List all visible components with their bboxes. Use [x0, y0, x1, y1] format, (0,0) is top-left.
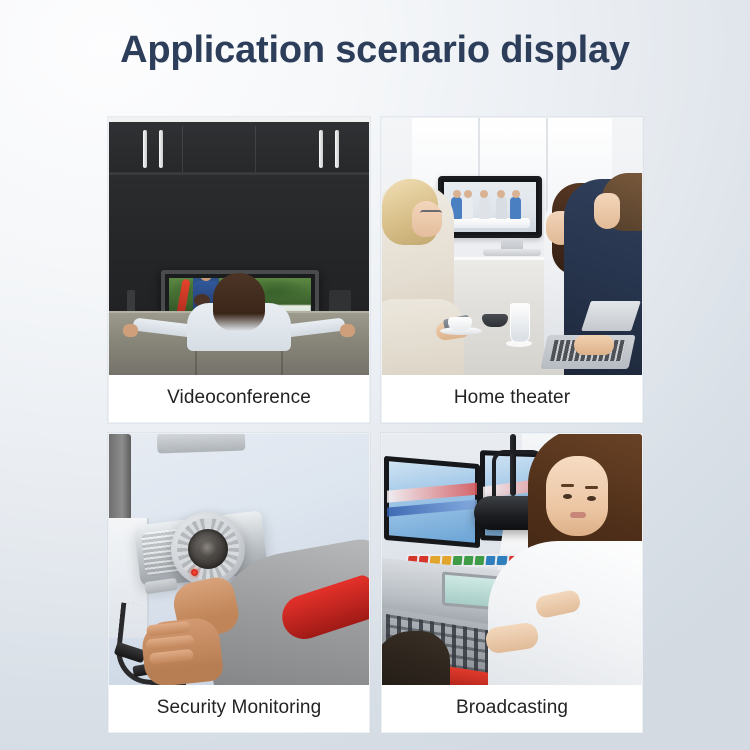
application-scenario-page: Application scenario display: [0, 0, 750, 750]
photo-security-monitoring: [109, 434, 369, 685]
water-glass: [510, 303, 530, 343]
photo-videoconference: [109, 118, 369, 375]
scenario-card-home-theater[interactable]: Home theater: [381, 117, 643, 423]
caption-broadcasting: Broadcasting: [382, 685, 642, 732]
caption-home-theater: Home theater: [382, 375, 642, 422]
laptop-secondary: [581, 301, 641, 331]
foreground-shadow: [382, 631, 450, 685]
scenario-card-security-monitoring[interactable]: Security Monitoring: [108, 433, 370, 733]
scene-radio-studio: [382, 434, 642, 685]
scene-dark-living-room: [109, 118, 369, 375]
monitor-base: [483, 249, 541, 256]
page-title: Application scenario display: [0, 26, 750, 74]
man-hand-right: [340, 324, 355, 337]
caption-videoconference: Videoconference: [109, 375, 369, 422]
scene-conference-room: [382, 118, 642, 375]
presenter-face: [546, 456, 608, 536]
photo-home-theater: [382, 118, 642, 375]
wall-post: [109, 434, 131, 520]
installer-hand-lower: [140, 616, 224, 685]
scene-cctv-installation: [109, 434, 369, 685]
camera-lens-assembly: [171, 512, 245, 586]
scenario-card-videoconference[interactable]: Videoconference: [108, 117, 370, 423]
photo-broadcasting: [382, 434, 642, 685]
dark-bowl: [482, 314, 508, 327]
man-hand-left: [123, 324, 138, 337]
hand-typing: [574, 335, 614, 355]
monitor-screen: [444, 182, 536, 232]
caption-security-monitoring: Security Monitoring: [109, 685, 369, 732]
scenario-card-grid: Videoconference: [108, 117, 643, 733]
scenario-card-broadcasting[interactable]: Broadcasting: [381, 433, 643, 733]
man-head: [213, 273, 265, 331]
eyeglasses: [420, 210, 442, 218]
presenter-lips: [570, 512, 586, 518]
camera-sun-hood: [157, 434, 246, 454]
studio-monitor-left: [384, 456, 480, 548]
overhead-cabinets: [109, 122, 369, 176]
status-led-red: [191, 569, 198, 576]
coffee-cup: [448, 317, 472, 331]
